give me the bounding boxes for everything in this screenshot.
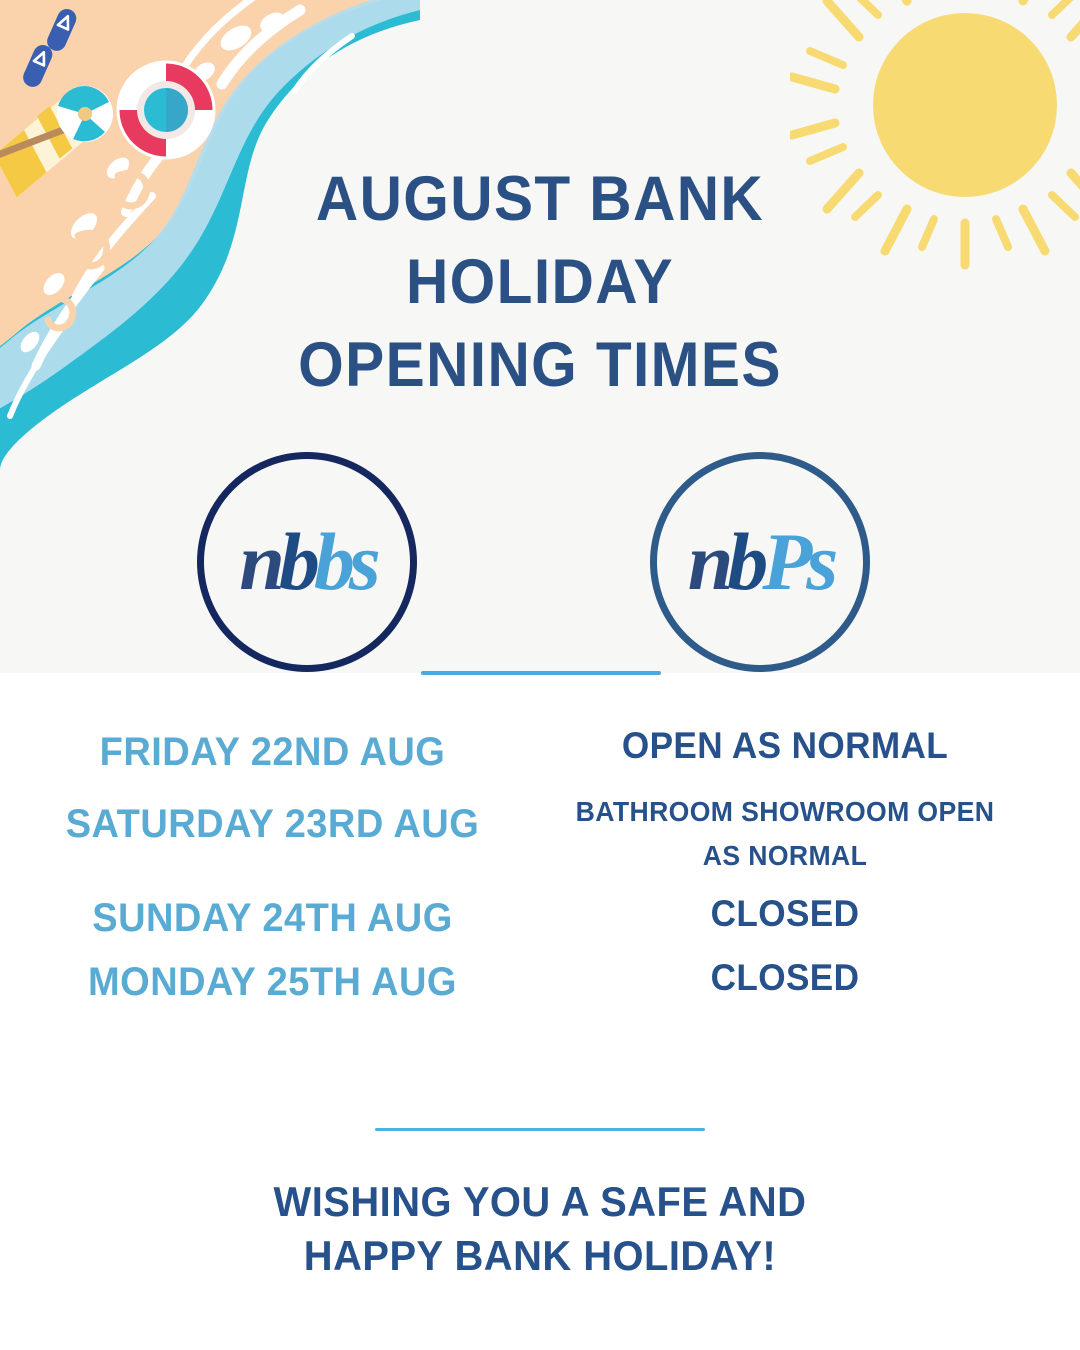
title-line-2: Holiday <box>38 241 1042 324</box>
logo-nbbs-letter-n: n <box>239 516 279 607</box>
title-line-1: August Bank <box>38 158 1042 241</box>
logo-nbbs-letter-b1: b <box>279 516 314 607</box>
schedule-date: Sunday 24th Aug <box>14 888 532 942</box>
table-row: Sunday 24th Aug Closed <box>0 888 1080 942</box>
poster-canvas: August Bank Holiday Opening Times nbbs n… <box>0 0 1080 1350</box>
schedule-status: Closed <box>557 888 1013 938</box>
logo-nbbs-letter-b2: b <box>314 516 349 607</box>
footer-message: Wishing you a safe and Happy Bank Holida… <box>0 1175 1080 1283</box>
logo-nbbs-wordmark: nbbs <box>239 521 375 603</box>
divider-bottom <box>375 1128 705 1131</box>
table-row: Monday 25th Aug Closed <box>0 954 1080 1006</box>
divider-top <box>421 671 661 675</box>
logo-nbps: nbPs <box>650 452 870 672</box>
logo-nbbs-letter-s: s <box>349 516 375 607</box>
footer-line-1: Wishing you a safe and <box>27 1175 1053 1229</box>
logo-row: nbbs nbPs <box>0 452 1080 672</box>
table-row: Friday 22nd Aug Open as normal <box>0 722 1080 776</box>
footer-line-2: Happy Bank Holiday! <box>27 1229 1053 1283</box>
schedule-date: Friday 22nd Aug <box>14 722 532 776</box>
logo-nbps-letter-b: b <box>727 516 762 607</box>
logo-nbps-letter-n: n <box>688 516 728 607</box>
logo-nbps-letter-p: P <box>762 516 806 607</box>
schedule-status: Closed <box>557 954 1013 1002</box>
schedule-date: Monday 25th Aug <box>14 954 532 1006</box>
table-row: Saturday 23rd Aug Bathroom showroom open… <box>0 790 1080 878</box>
schedule-status: Open as normal <box>557 722 1013 770</box>
opening-times-table: Friday 22nd Aug Open as normal Saturday … <box>0 722 1080 1012</box>
logo-nbps-letter-s: s <box>806 516 832 607</box>
title-line-3: Opening Times <box>38 324 1042 407</box>
logo-nbps-wordmark: nbPs <box>688 521 833 603</box>
logo-nbbs: nbbs <box>197 452 417 672</box>
poster-title: August Bank Holiday Opening Times <box>0 158 1080 407</box>
schedule-status: Bathroom showroom open as normal <box>557 790 1013 878</box>
schedule-date: Saturday 23rd Aug <box>14 790 532 848</box>
